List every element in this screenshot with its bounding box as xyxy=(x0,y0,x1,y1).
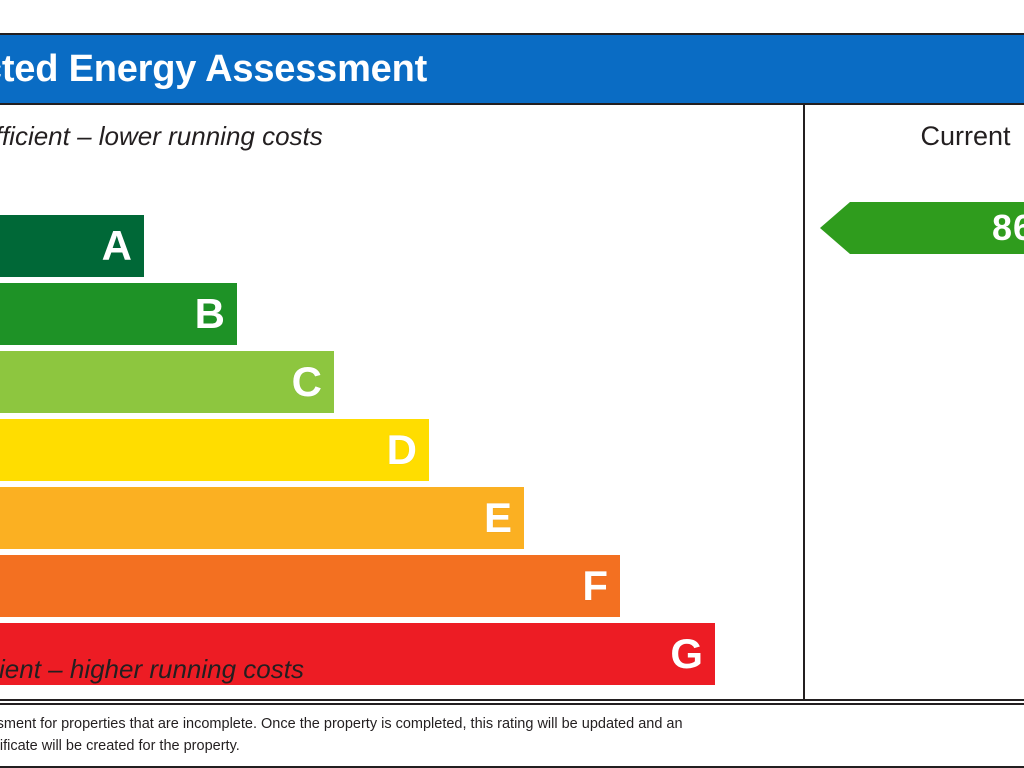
rating-bar-e: E xyxy=(0,487,524,549)
rating-letter-a: A xyxy=(102,225,132,267)
rating-letter-g: G xyxy=(670,633,703,675)
rating-band-row-c: C xyxy=(0,351,803,413)
rating-band-list: A B C D xyxy=(0,215,803,691)
rating-letter-b: B xyxy=(195,293,225,335)
title-banner: redicted Energy Assessment xyxy=(0,35,1024,105)
page-title: redicted Energy Assessment xyxy=(0,48,427,91)
current-column-heading: Current xyxy=(805,121,1024,152)
caption-efficient: nergy efficient – lower running costs xyxy=(0,121,323,152)
certificate-sheet: redicted Energy Assessment nergy efficie… xyxy=(0,33,1024,701)
rating-bar-d: D xyxy=(0,419,429,481)
rating-band-row-f: F xyxy=(0,555,803,617)
rating-band-row-d: D xyxy=(0,419,803,481)
current-rating-score: 86 xyxy=(992,210,1024,246)
rating-bar-b: B xyxy=(0,283,237,345)
rating-band-row-e: E xyxy=(0,487,803,549)
certificate-body: nergy efficient – lower running costs A … xyxy=(0,105,1024,699)
rating-band-row-b: B xyxy=(0,283,803,345)
rating-bar-c: C xyxy=(0,351,334,413)
current-rating-arrow-wrap: 86 B xyxy=(820,202,1024,254)
current-rating-panel: Current 86 B xyxy=(805,105,1024,699)
rating-letter-c: C xyxy=(292,361,322,403)
energy-rating-chart: nergy efficient – lower running costs A … xyxy=(0,105,805,699)
predicted-energy-assessment: redicted Energy Assessment nergy efficie… xyxy=(0,0,1024,768)
rating-band-row-a: A xyxy=(0,215,803,277)
footnote-line-1: Energy Assessment for properties that ar… xyxy=(0,713,1024,735)
rating-bar-a: A xyxy=(0,215,144,277)
rating-letter-e: E xyxy=(484,497,512,539)
rating-letter-d: D xyxy=(387,429,417,471)
caption-inefficient: rgy efficient – higher running costs xyxy=(0,654,304,685)
rating-bar-f: F xyxy=(0,555,620,617)
footnote-line-2: formance Certificate will be created for… xyxy=(0,735,1024,757)
current-rating-arrow-icon: 86 B xyxy=(820,202,1024,254)
footnote-box: Energy Assessment for properties that ar… xyxy=(0,703,1024,768)
rating-letter-f: F xyxy=(582,565,608,607)
